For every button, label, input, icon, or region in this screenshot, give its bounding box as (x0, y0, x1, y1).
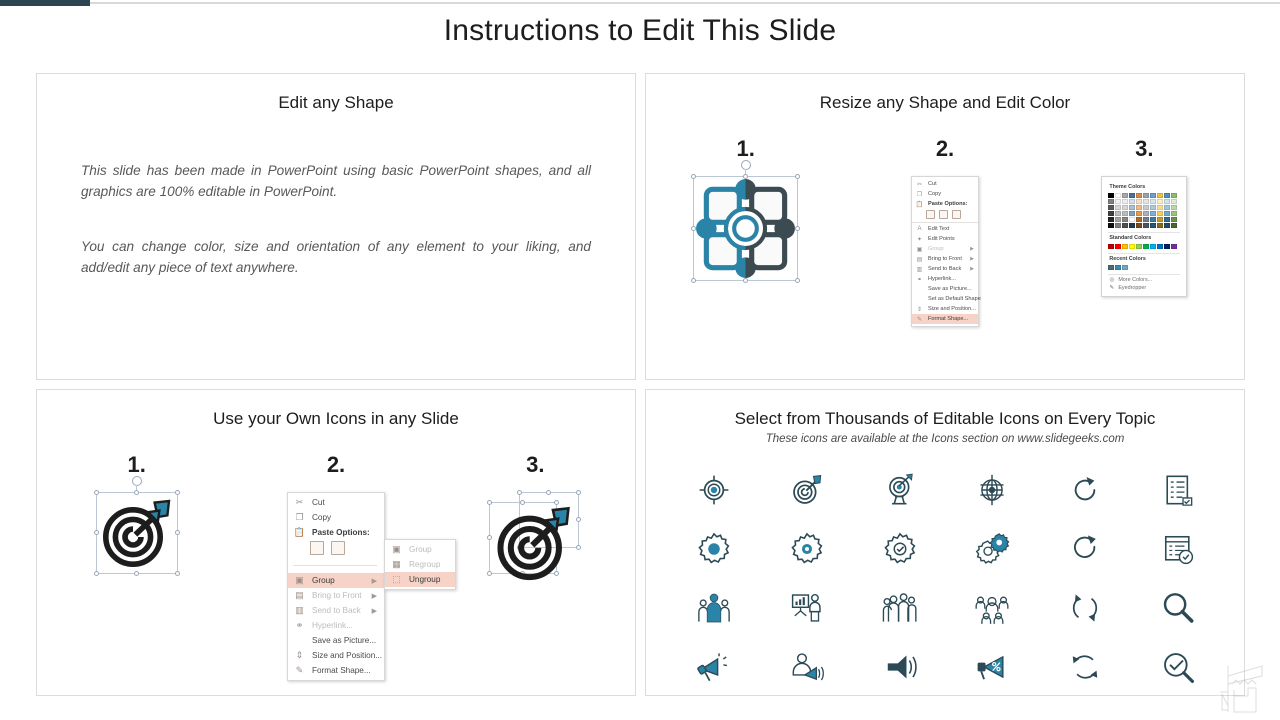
eyedropper-icon: ✎ (1108, 285, 1115, 291)
own-icons-step-3-number: 3. (526, 452, 544, 478)
megaphone-icon (696, 649, 732, 685)
recent-colors-swatches[interactable] (1108, 265, 1180, 270)
resize-step-2: 2. ✂Cut❐Copy📋Paste Options:AEdit Text✦Ed… (845, 136, 1044, 326)
color-swatch[interactable] (1136, 205, 1142, 210)
cycle-arrows-icon (1067, 649, 1103, 685)
paste-option-2-icon[interactable] (939, 210, 948, 219)
resize-handle-tc[interactable] (743, 174, 748, 179)
theme-color-column-10[interactable] (1171, 193, 1177, 228)
target-dart-icon (789, 472, 825, 508)
team-people-icon (696, 590, 732, 626)
own-icons-step-1: 1. (37, 452, 236, 642)
scissors-icon: ✂ (915, 180, 924, 188)
color-swatch[interactable] (1143, 211, 1149, 216)
icon-cell[interactable] (946, 578, 1039, 637)
team-meeting-icon (974, 590, 1010, 626)
color-swatch[interactable] (1129, 205, 1135, 210)
color-swatch[interactable] (1108, 244, 1114, 249)
menu-item-group[interactable]: ▣Group▶ (912, 244, 978, 254)
menu-item-paste-options[interactable]: 📋Paste Options: (912, 199, 978, 209)
bring-front-icon: ▤ (293, 590, 306, 602)
ungrouped-selection-group[interactable] (489, 492, 581, 584)
menu-item-label: Save as Picture... (312, 636, 377, 645)
color-swatch[interactable] (1136, 199, 1142, 204)
target-dart-icon-ungrouped (491, 498, 577, 584)
resize-shape-steps: 1. (646, 136, 1244, 326)
icon-cell[interactable] (1039, 460, 1132, 519)
person-megaphone-icon (789, 649, 825, 685)
send-back-icon: ▥ (915, 265, 924, 273)
scissors-icon: ✂ (293, 497, 306, 509)
menu-item-cut[interactable]: ✂Cut (288, 495, 384, 510)
icon-cell[interactable] (853, 460, 946, 519)
divider-1 (1108, 232, 1180, 233)
color-swatch[interactable] (1115, 211, 1121, 216)
group-icon: ▣ (293, 575, 306, 587)
icon-cell[interactable] (1131, 578, 1224, 637)
theme-color-column-6[interactable] (1143, 193, 1149, 228)
menu-item-send-to-back[interactable]: ▥Send to Back▶ (288, 603, 384, 618)
recent-color-3[interactable] (1122, 265, 1128, 270)
color-swatch[interactable] (1108, 205, 1114, 210)
color-swatch[interactable] (1157, 211, 1163, 216)
chevron-right-icon: ▶ (372, 577, 377, 585)
color-swatch[interactable] (1122, 205, 1128, 210)
panel-title-edit-shape: Edit any Shape (37, 93, 635, 113)
recent-color-2[interactable] (1115, 265, 1121, 270)
icon-cell[interactable] (853, 578, 946, 637)
megaphone-percent-icon (974, 649, 1010, 685)
color-swatch[interactable] (1115, 217, 1121, 222)
group-icon: ▣ (390, 544, 403, 556)
resize-handle-tr[interactable] (175, 490, 180, 495)
chevron-right-icon: ▶ (970, 266, 974, 272)
icon-cell[interactable] (761, 519, 854, 578)
slidegeeks-watermark-logo (1218, 662, 1266, 714)
resize-handle-mr[interactable] (175, 530, 180, 535)
resize-handle-br[interactable] (795, 278, 800, 283)
resize-handle-bl[interactable] (94, 571, 99, 576)
icon-cell[interactable] (668, 460, 761, 519)
menu-item-label: Format Shape... (928, 316, 974, 322)
color-swatch[interactable] (1122, 211, 1128, 216)
edit-text-icon: A (915, 225, 924, 233)
standard-color-7[interactable] (1150, 244, 1156, 249)
icon-cell[interactable] (1039, 578, 1132, 637)
menu-item-label: Group (409, 545, 448, 554)
resize-step-2-art: ✂Cut❐Copy📋Paste Options:AEdit Text✦Edit … (911, 176, 979, 326)
menu-item-bring-to-front[interactable]: ▤Bring to Front▶ (288, 588, 384, 603)
color-swatch[interactable] (1108, 223, 1114, 228)
theme-colors-label: Theme Colors (1109, 184, 1180, 190)
icon-cell[interactable] (668, 519, 761, 578)
double-gear-icon (974, 531, 1010, 567)
color-swatch[interactable] (1122, 193, 1128, 198)
menu-item-label: Copy (312, 513, 377, 522)
standard-color-6[interactable] (1143, 244, 1149, 249)
icon-cell[interactable] (946, 637, 1039, 696)
standard-color-8[interactable] (1157, 244, 1163, 249)
menu-item-label: Copy (928, 191, 974, 197)
size-position-icon: ⇕ (915, 305, 924, 313)
color-swatch[interactable] (1122, 217, 1128, 222)
standard-color-10[interactable] (1171, 244, 1177, 249)
menu-item-edit-points[interactable]: ✦Edit Points (912, 234, 978, 244)
target-dart-icon (97, 493, 177, 573)
menu-item-label: Bring to Front (312, 591, 366, 600)
editable-icons-subtitle: These icons are available at the Icons s… (646, 433, 1244, 445)
menu-item-label: Group (312, 576, 366, 585)
own-icons-step-1-art (96, 492, 178, 642)
menu-item-label: Cut (312, 498, 377, 507)
own-icons-step-3-art (489, 492, 581, 642)
magnifier-check-icon (1160, 649, 1196, 685)
edit-shape-text-block: This slide has been made in PowerPoint u… (37, 160, 635, 278)
color-swatch[interactable] (1164, 199, 1170, 204)
size-position-icon: ⇕ (293, 650, 306, 662)
chevron-right-icon: ▶ (970, 246, 974, 252)
menu-item-group[interactable]: ▣Group (385, 542, 455, 557)
two-arrows-cycle-icon (1067, 590, 1103, 626)
color-swatch[interactable] (1129, 211, 1135, 216)
edit-shape-paragraph-2: You can change color, size and orientati… (81, 236, 591, 278)
icon-cell[interactable] (946, 519, 1039, 578)
color-swatch[interactable] (1157, 244, 1163, 249)
icon-cell[interactable] (1131, 460, 1224, 519)
standard-color-3[interactable] (1122, 244, 1128, 249)
group-icon: ▣ (915, 245, 924, 253)
circular-arrow-icon (1067, 531, 1103, 567)
resize-handle-br[interactable] (175, 571, 180, 576)
theme-colors-swatches[interactable] (1108, 193, 1180, 228)
menu-item-edit-text[interactable]: AEdit Text (912, 224, 978, 234)
target-crosshair-icon (696, 472, 732, 508)
menu-item-group[interactable]: ▣Group▶ (288, 573, 384, 588)
color-swatch[interactable] (1164, 244, 1170, 249)
color-swatch[interactable] (1164, 211, 1170, 216)
menu-item-size-and-position[interactable]: ⇕Size and Position... (912, 304, 978, 314)
color-swatch[interactable] (1108, 193, 1114, 198)
resize-handle-bc[interactable] (134, 571, 139, 576)
color-swatch[interactable] (1143, 199, 1149, 204)
standard-color-4[interactable] (1129, 244, 1135, 249)
menu-item-label: Ungroup (409, 575, 448, 584)
resize-step-3-number: 3. (1135, 136, 1153, 162)
resize-handle-tr[interactable] (576, 490, 581, 495)
standard-color-5[interactable] (1136, 244, 1142, 249)
menu-item-save-as-picture[interactable]: Save as Picture... (912, 284, 978, 294)
crosshair-target-icon (974, 472, 1010, 508)
menu-item-send-to-back[interactable]: ▥Send to Back▶ (912, 264, 978, 274)
color-swatch[interactable] (1129, 193, 1135, 198)
group-submenu[interactable]: ▣Group▦Regroup⬚Ungroup (384, 539, 456, 590)
menu-item-size-and-position[interactable]: ⇕Size and Position... (288, 648, 384, 663)
icon-cell[interactable] (853, 519, 946, 578)
color-swatch[interactable] (1171, 244, 1177, 249)
color-swatch[interactable] (1150, 223, 1156, 228)
shape-selection-box[interactable] (693, 176, 798, 281)
color-swatch[interactable] (1150, 193, 1156, 198)
menu-item-cut[interactable]: ✂Cut (912, 179, 978, 189)
menu-item-copy[interactable]: ❐Copy (288, 510, 384, 525)
accent-bar-light (90, 2, 1280, 4)
checklist-document-icon (1160, 472, 1196, 508)
paste-icon: 📋 (293, 527, 306, 539)
color-swatch[interactable] (1129, 217, 1135, 222)
icon-cell[interactable] (853, 637, 946, 696)
color-swatch[interactable] (1136, 193, 1142, 198)
menu-item-label: Send to Back (312, 606, 366, 615)
paste-option-1-icon[interactable] (926, 210, 935, 219)
menu-item-save-as-picture[interactable]: Save as Picture... (288, 633, 384, 648)
color-swatch[interactable] (1129, 244, 1135, 249)
color-swatch[interactable] (1171, 223, 1177, 228)
color-swatch[interactable] (1136, 244, 1142, 249)
menu-item-set-as-default-shape[interactable]: Set as Default Shape (912, 294, 978, 304)
menu-item-copy[interactable]: ❐Copy (912, 189, 978, 199)
color-swatch[interactable] (1115, 205, 1121, 210)
menu-item-hyperlink[interactable]: ⚭Hyperlink... (912, 274, 978, 284)
resize-step-2-number: 2. (936, 136, 954, 162)
color-swatch[interactable] (1150, 199, 1156, 204)
color-swatch[interactable] (1129, 199, 1135, 204)
resize-handle-bc[interactable] (743, 278, 748, 283)
theme-color-column-9[interactable] (1164, 193, 1170, 228)
panel-title-own-icons: Use your Own Icons in any Slide (37, 409, 635, 429)
hyperlink-icon: ⚭ (915, 275, 924, 283)
icon-cell[interactable] (946, 460, 1039, 519)
color-swatch[interactable] (1171, 211, 1177, 216)
menu-item-bring-to-front[interactable]: ▤Bring to Front▶ (912, 254, 978, 264)
color-swatch[interactable] (1157, 205, 1163, 210)
recent-colors-label: Recent Colors (1109, 256, 1180, 262)
color-swatch[interactable] (1150, 244, 1156, 249)
color-swatch[interactable] (1136, 223, 1142, 228)
menu-item-paste-options[interactable]: 📋Paste Options: (288, 525, 384, 540)
page-title: Instructions to Edit This Slide (0, 14, 1280, 48)
color-swatch[interactable] (1171, 199, 1177, 204)
color-swatch[interactable] (1122, 265, 1128, 270)
resize-handle-ml[interactable] (691, 226, 696, 231)
edit-points-icon: ✦ (915, 235, 924, 243)
panel-editable-icons: Select from Thousands of Editable Icons … (645, 389, 1245, 696)
own-icons-step-3: 3. (436, 452, 635, 642)
color-swatch[interactable] (1143, 205, 1149, 210)
palette-icon: ◎ (1108, 277, 1115, 283)
menu-item-hyperlink[interactable]: ⚭Hyperlink... (288, 618, 384, 633)
color-swatch[interactable] (1108, 199, 1114, 204)
refresh-arrow-icon (1067, 472, 1103, 508)
resize-handle-ml[interactable] (94, 530, 99, 535)
resize-step-1: 1. (646, 136, 845, 326)
menu-item-label: Cut (928, 181, 974, 187)
resize-handle-tl[interactable] (94, 490, 99, 495)
menu-item-format-shape[interactable]: ✎Format Shape... (288, 663, 384, 678)
menu-item-label: Regroup (409, 560, 448, 569)
color-swatch[interactable] (1136, 217, 1142, 222)
theme-color-column-2[interactable] (1115, 193, 1121, 228)
copy-icon: ❐ (293, 512, 306, 524)
color-swatch[interactable] (1143, 223, 1149, 228)
color-swatch[interactable] (1115, 223, 1121, 228)
menu-item-label: Hyperlink... (928, 276, 974, 282)
chevron-right-icon: ▶ (372, 592, 377, 600)
color-swatch[interactable] (1115, 244, 1121, 249)
menu-item-label: Hyperlink... (312, 621, 377, 630)
theme-color-column-3[interactable] (1122, 193, 1128, 228)
paste-option-3-icon[interactable] (952, 210, 961, 219)
resize-handle-tl[interactable] (517, 490, 522, 495)
target-stand-icon (882, 472, 918, 508)
eyedropper-label: Eyedropper (1118, 285, 1146, 291)
color-swatch[interactable] (1136, 211, 1142, 216)
color-swatch[interactable] (1143, 244, 1149, 249)
own-icons-step-2-art: ✂Cut❐Copy📋Paste Options:▣Group▶▤Bring to… (287, 492, 385, 642)
edit-shape-paragraph-1: This slide has been made in PowerPoint u… (81, 160, 591, 202)
target-icon-selection-box[interactable] (96, 492, 178, 574)
color-swatch[interactable] (1129, 223, 1135, 228)
color-swatch[interactable] (1171, 205, 1177, 210)
color-swatch[interactable] (1115, 265, 1121, 270)
menu-item-format-shape[interactable]: ✎Format Shape... (912, 314, 978, 324)
more-colors-item[interactable]: ◎ More Colors... (1108, 277, 1180, 283)
theme-color-column-5[interactable] (1136, 193, 1142, 228)
menu-item-regroup[interactable]: ▦Regroup (385, 557, 455, 572)
color-swatch[interactable] (1171, 193, 1177, 198)
color-swatch[interactable] (1157, 217, 1163, 222)
eyedropper-item[interactable]: ✎ Eyedropper (1108, 285, 1180, 291)
theme-color-column-1[interactable] (1108, 193, 1114, 228)
chevron-right-icon: ▶ (372, 607, 377, 615)
icon-cell[interactable] (1039, 519, 1132, 578)
icon-cell[interactable] (761, 460, 854, 519)
color-swatch[interactable] (1108, 211, 1114, 216)
color-swatch[interactable] (1171, 217, 1177, 222)
color-swatch[interactable] (1164, 193, 1170, 198)
own-icons-step-2-number: 2. (327, 452, 345, 478)
resize-handle-bl[interactable] (691, 278, 696, 283)
group-people-icon (882, 590, 918, 626)
shape-context-menu[interactable]: ✂Cut❐Copy📋Paste Options:AEdit Text✦Edit … (911, 176, 979, 327)
copy-icon: ❐ (915, 190, 924, 198)
color-swatch[interactable] (1150, 217, 1156, 222)
quad-squares-target-icon (694, 177, 797, 280)
chevron-right-icon: ▶ (970, 256, 974, 262)
format-shape-icon: ✎ (293, 665, 306, 677)
paste-option-1-icon[interactable] (310, 541, 324, 555)
accent-bar-dark (0, 0, 90, 6)
resize-handle-mr[interactable] (795, 226, 800, 231)
own-icons-steps: 1. (37, 452, 635, 642)
icon-cell[interactable] (1039, 637, 1132, 696)
panel-resize-shape: Resize any Shape and Edit Color 1. (645, 73, 1245, 380)
color-swatch[interactable] (1108, 217, 1114, 222)
standard-color-9[interactable] (1164, 244, 1170, 249)
color-swatch[interactable] (1122, 223, 1128, 228)
theme-color-column-7[interactable] (1150, 193, 1156, 228)
gear-circle-icon (789, 531, 825, 567)
divider-3 (1108, 274, 1180, 275)
color-swatch[interactable] (1143, 217, 1149, 222)
menu-item-label: Send to Back (928, 266, 964, 272)
color-swatch[interactable] (1143, 193, 1149, 198)
icon-gallery-grid (668, 460, 1224, 696)
icon-cell[interactable] (668, 578, 761, 637)
regroup-icon: ▦ (390, 559, 403, 571)
panel-own-icons: Use your Own Icons in any Slide 1. (36, 389, 636, 696)
bring-front-icon: ▤ (915, 255, 924, 263)
icon-cell[interactable] (761, 578, 854, 637)
color-swatch[interactable] (1108, 265, 1114, 270)
color-swatch[interactable] (1150, 211, 1156, 216)
menu-item-label: Group (928, 246, 964, 252)
color-swatch[interactable] (1157, 199, 1163, 204)
standard-color-2[interactable] (1115, 244, 1121, 249)
icon-cell[interactable] (668, 637, 761, 696)
color-swatch[interactable] (1164, 223, 1170, 228)
paste-options-row[interactable] (912, 209, 978, 221)
color-swatch[interactable] (1115, 193, 1121, 198)
theme-color-column-8[interactable] (1157, 193, 1163, 228)
menu-item-label: Save as Picture... (928, 286, 974, 292)
color-swatch[interactable] (1164, 217, 1170, 222)
icon-cell[interactable] (1131, 637, 1224, 696)
panel-title-editable-icons: Select from Thousands of Editable Icons … (646, 409, 1244, 429)
presentation-person-icon (789, 590, 825, 626)
none (915, 285, 924, 293)
icon-cell[interactable] (1131, 519, 1224, 578)
menu-item-label: Bring to Front (928, 256, 964, 262)
color-swatch[interactable] (1157, 223, 1163, 228)
menu-item-label: Format Shape... (312, 666, 377, 675)
menu-item-ungroup[interactable]: ⬚Ungroup (385, 572, 455, 587)
color-swatch[interactable] (1157, 193, 1163, 198)
resize-handle-tc[interactable] (546, 490, 551, 495)
own-icons-step-1-number: 1. (127, 452, 145, 478)
group-context-menu[interactable]: ✂Cut❐Copy📋Paste Options:▣Group▶▤Bring to… (287, 492, 385, 681)
menu-item-label: Paste Options: (312, 528, 377, 537)
menu-item-label: Set as Default Shape (928, 296, 981, 302)
more-colors-label: More Colors... (1118, 277, 1152, 283)
menu-item-label: Edit Points (928, 236, 974, 242)
icon-cell[interactable] (761, 637, 854, 696)
resize-handle-tr[interactable] (795, 174, 800, 179)
divider-2 (1108, 253, 1180, 254)
standard-colors-swatches[interactable] (1108, 244, 1180, 249)
speaker-announce-icon (882, 649, 918, 685)
theme-color-column-4[interactable] (1129, 193, 1135, 228)
color-swatch[interactable] (1122, 199, 1128, 204)
color-swatch[interactable] (1115, 199, 1121, 204)
standard-color-1[interactable] (1108, 244, 1114, 249)
color-swatch[interactable] (1164, 205, 1170, 210)
send-back-icon: ▥ (293, 605, 306, 617)
paste-options-row[interactable] (288, 540, 384, 558)
color-picker-dropdown[interactable]: Theme Colors Standard Colors Recent Colo… (1101, 176, 1187, 297)
resize-handle-tc[interactable] (134, 490, 139, 495)
resize-step-3-art: Theme Colors Standard Colors Recent Colo… (1101, 176, 1187, 326)
color-swatch[interactable] (1122, 244, 1128, 249)
ungroup-icon: ⬚ (390, 574, 403, 586)
resize-step-1-number: 1. (736, 136, 754, 162)
color-swatch[interactable] (1150, 205, 1156, 210)
menu-item-label: Size and Position... (928, 306, 976, 312)
recent-color-1[interactable] (1108, 265, 1114, 270)
panel-edit-any-shape: Edit any Shape This slide has been made … (36, 73, 636, 380)
none (293, 635, 306, 647)
hyperlink-icon: ⚭ (293, 620, 306, 632)
paste-option-2-icon[interactable] (331, 541, 345, 555)
